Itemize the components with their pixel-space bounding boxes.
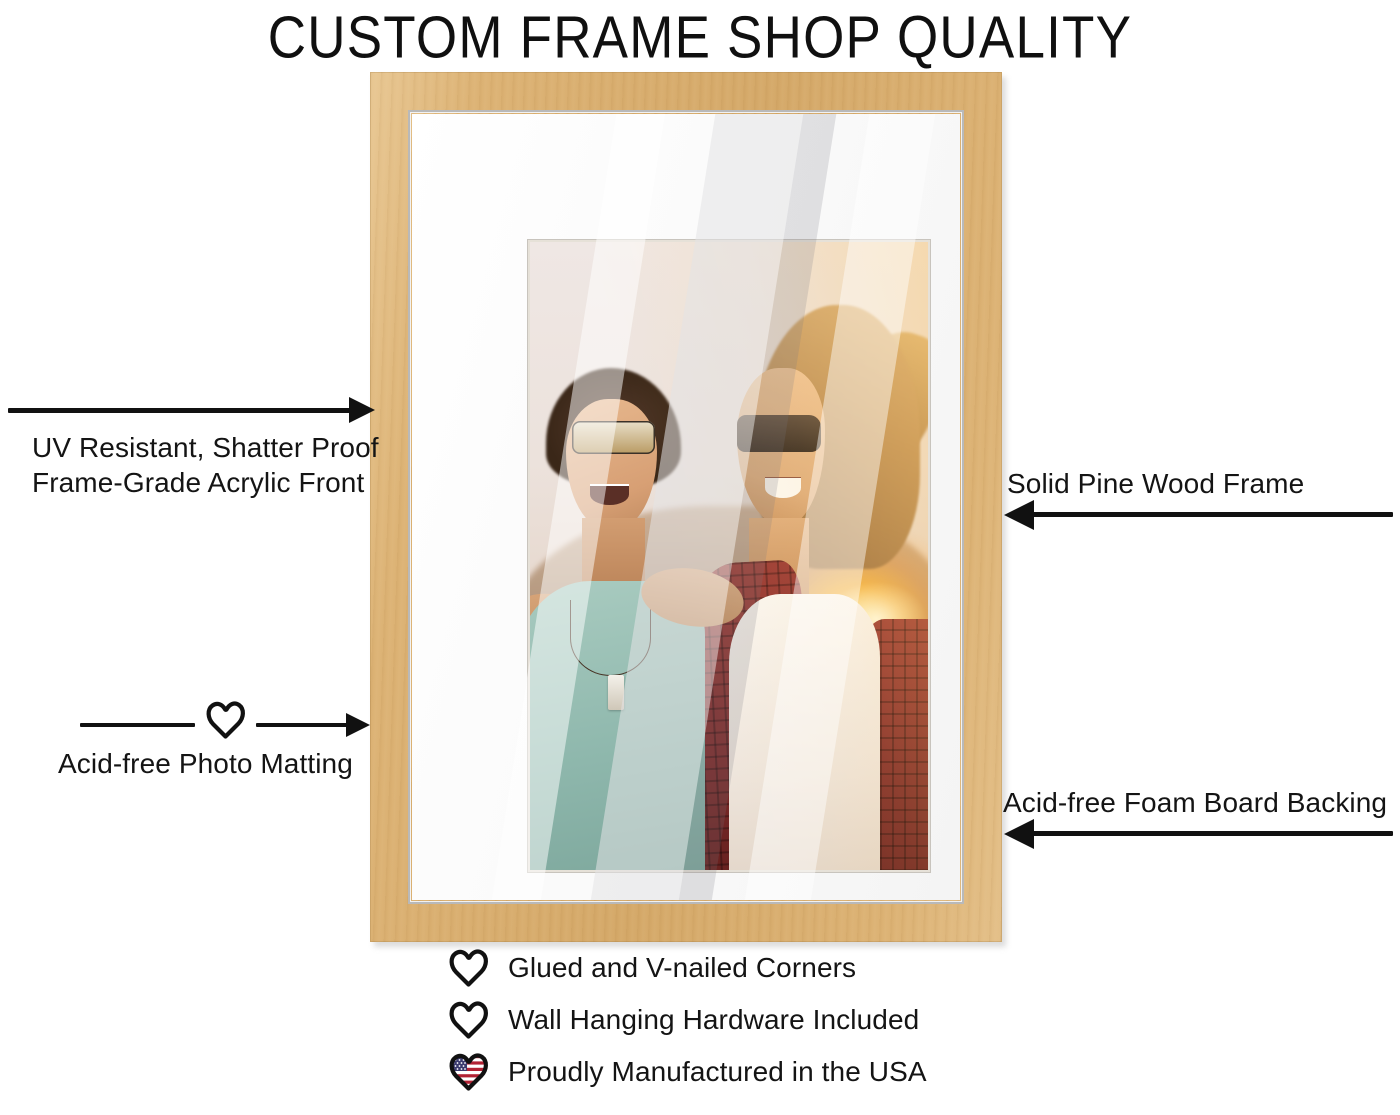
backing-annotation-label: Acid-free Foam Board Backing bbox=[1003, 787, 1387, 819]
backing-arrow-line bbox=[1033, 831, 1393, 836]
acrylic-arrow-line bbox=[8, 408, 356, 413]
heart-outline-icon bbox=[448, 1000, 490, 1040]
page-title: CUSTOM FRAME SHOP QUALITY bbox=[0, 6, 1400, 71]
wood-annotation-label: Solid Pine Wood Frame bbox=[1007, 468, 1304, 500]
matting-arrow-line-left bbox=[80, 723, 195, 727]
matting-arrow-head-icon bbox=[346, 713, 370, 737]
frame-inner-lip bbox=[410, 112, 962, 902]
heart-usa-flag-icon bbox=[448, 1052, 490, 1092]
framed-picture bbox=[370, 72, 1002, 942]
acrylic-annotation-line1: UV Resistant, Shatter Proof bbox=[32, 430, 379, 465]
backing-arrow-head-icon bbox=[1004, 819, 1034, 849]
feature-item-glued-corners: Glued and V-nailed Corners bbox=[448, 948, 856, 988]
heart-outline-icon bbox=[448, 948, 490, 988]
matting-annotation-label: Acid-free Photo Matting bbox=[58, 748, 353, 780]
feature-item-made-in-usa: Proudly Manufactured in the USA bbox=[448, 1052, 927, 1092]
feature-label: Proudly Manufactured in the USA bbox=[508, 1056, 927, 1088]
acrylic-annotation-line2: Frame-Grade Acrylic Front bbox=[32, 465, 364, 500]
matting-arrow-line-right bbox=[256, 723, 354, 727]
feature-label: Wall Hanging Hardware Included bbox=[508, 1004, 919, 1036]
wood-arrow-head-icon bbox=[1004, 500, 1034, 530]
pine-wood-moulding bbox=[370, 72, 1002, 942]
feature-label: Glued and V-nailed Corners bbox=[508, 952, 856, 984]
feature-item-wall-hardware: Wall Hanging Hardware Included bbox=[448, 1000, 919, 1040]
acrylic-arrow-head-icon bbox=[349, 397, 375, 423]
heart-outline-icon bbox=[205, 700, 247, 740]
wood-arrow-line bbox=[1033, 512, 1393, 517]
